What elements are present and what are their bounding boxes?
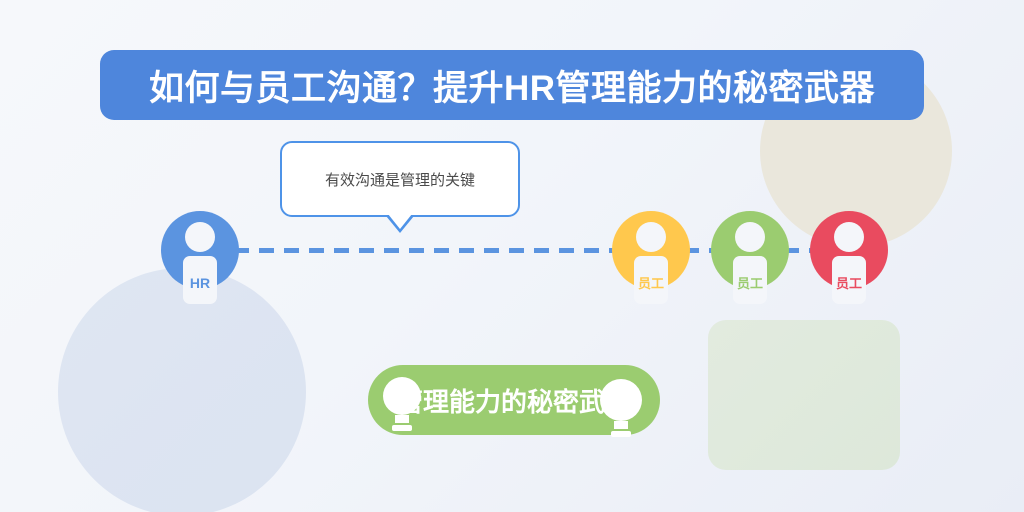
avatar-employee-1[interactable]: 员工	[612, 211, 690, 289]
person-icon-head	[834, 222, 864, 252]
infographic-canvas: 如何与员工沟通？提升HR管理能力的秘密武器 有效沟通是管理的关键 HR 员工 员…	[0, 0, 1024, 512]
decorative-rounded-rect-green	[708, 320, 900, 470]
avatar-employee-3[interactable]: 员工	[810, 211, 888, 289]
avatar-employee-2[interactable]: 员工	[711, 211, 789, 289]
title-banner: 如何与员工沟通？提升HR管理能力的秘密武器	[100, 50, 924, 120]
person-icon-head	[185, 222, 215, 252]
person-icon-body: 员工	[832, 256, 866, 304]
person-icon-body: 员工	[733, 256, 767, 304]
page-title: 如何与员工沟通？提升HR管理能力的秘密武器	[149, 60, 875, 111]
person-icon-body: HR	[183, 256, 217, 304]
avatar-employee-1-label: 员工	[638, 277, 664, 290]
speech-bubble: 有效沟通是管理的关键	[280, 141, 520, 217]
avatar-employee-3-label: 员工	[836, 277, 862, 290]
lightbulb-base	[392, 425, 412, 431]
lightbulb-neck	[614, 421, 628, 429]
avatar-employee-2-label: 员工	[737, 277, 763, 290]
person-icon-head	[636, 222, 666, 252]
footer-pill-text: 管理能力的秘密武器	[397, 382, 631, 419]
person-icon-head	[735, 222, 765, 252]
lightbulb-base	[611, 431, 631, 437]
avatar-hr-label: HR	[190, 276, 210, 290]
decorative-circle-blue	[58, 268, 306, 512]
person-icon-body: 员工	[634, 256, 668, 304]
speech-bubble-text: 有效沟通是管理的关键	[325, 169, 475, 190]
avatar-hr[interactable]: HR	[161, 211, 239, 289]
footer-pill: 管理能力的秘密武器	[368, 365, 660, 435]
speech-bubble-tail-fill	[388, 214, 412, 229]
